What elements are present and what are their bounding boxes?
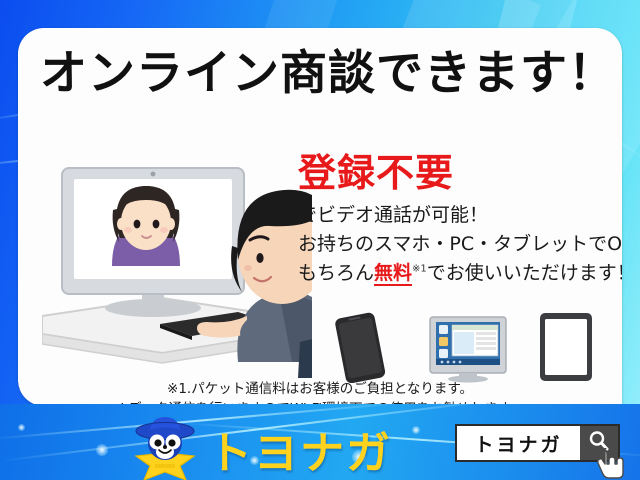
copy-line-video-call: でビデオ通話が可能！ (298, 201, 622, 230)
free-highlight: 無料 (374, 262, 412, 286)
bottom-brand-bar: トヨナガ トヨナガ (0, 404, 640, 480)
tablet-icon (540, 313, 592, 381)
bar-glow-dot (18, 424, 25, 431)
hand-cursor-icon (596, 448, 626, 480)
content-card: オンライン商談できます！ (18, 28, 622, 406)
footnotes: ※1.パケット通信料はお客様のご負担となります。 ※データ通信を行いますのでWi… (18, 380, 622, 406)
bar-glow-dot (96, 444, 108, 456)
copy-line-free-suffix: でお使いいただけます！ (427, 262, 622, 284)
video-call-illustration (42, 148, 312, 378)
advertisement-banner: オンライン商談できます！ (0, 0, 640, 480)
toyonaga-star-mascot (128, 416, 202, 480)
bar-glow-dot (412, 426, 420, 434)
promo-copy: 登録不要 でビデオ通話が可能！ お持ちのスマホ・PC・タブレットでOK もちろん… (298, 154, 622, 288)
copy-line-free-prefix: もちろん (298, 262, 374, 284)
copy-line-devices: お持ちのスマホ・PC・タブレットでOK (298, 230, 622, 259)
smartphone-icon (334, 312, 386, 383)
brand-logo-text: トヨナガ (208, 417, 392, 480)
device-icons-row (318, 311, 608, 383)
copy-line-free: もちろん無料※1でお使いいただけます！ (298, 259, 622, 288)
no-registration-headline: 登録不要 (298, 154, 622, 194)
pc-monitor-icon (430, 317, 506, 383)
search-input[interactable]: トヨナガ (457, 426, 580, 460)
footnote-marker: ※1 (412, 263, 427, 274)
page-title: オンライン商談できます！ (40, 34, 616, 103)
footnote-packet-fee: ※1.パケット通信料はお客様のご負担となります。 (18, 380, 622, 400)
